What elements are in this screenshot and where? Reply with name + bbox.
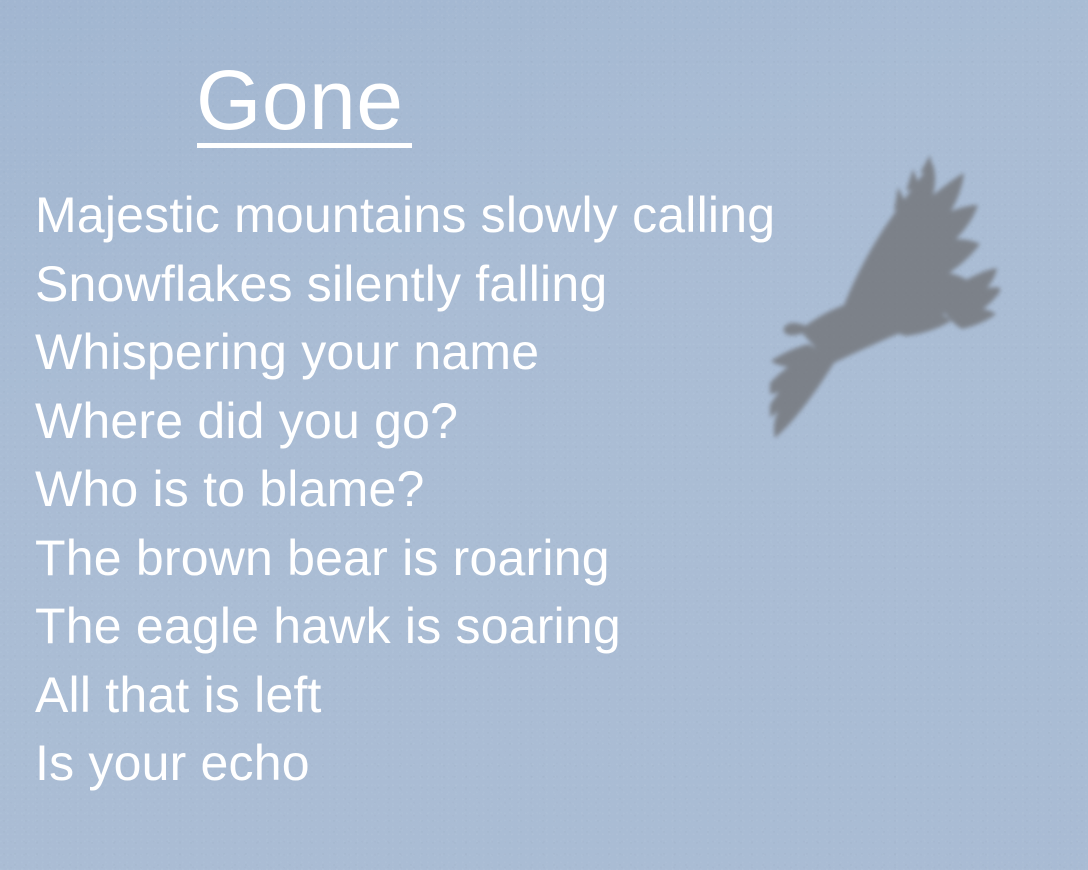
- page-title: Gone: [196, 58, 404, 142]
- poem-line: Who is to blame?: [35, 455, 795, 524]
- poem-line: Whispering your name: [35, 318, 795, 387]
- poem-poster: Gone Majestic mountains slowly calling S…: [0, 0, 1088, 870]
- poem-line: The brown bear is roaring: [35, 524, 795, 593]
- poem-body: Majestic mountains slowly calling Snowfl…: [35, 181, 795, 798]
- poem-line: Where did you go?: [35, 387, 795, 456]
- poem-line: Snowflakes silently falling: [35, 250, 795, 319]
- poem-line: All that is left: [35, 661, 795, 730]
- poem-line: Majestic mountains slowly calling: [35, 181, 795, 250]
- poem-line: Is your echo: [35, 729, 795, 798]
- eagle-hawk-silhouette: [770, 125, 1000, 455]
- poem-line: The eagle hawk is soaring: [35, 592, 795, 661]
- title-underline: [197, 143, 412, 148]
